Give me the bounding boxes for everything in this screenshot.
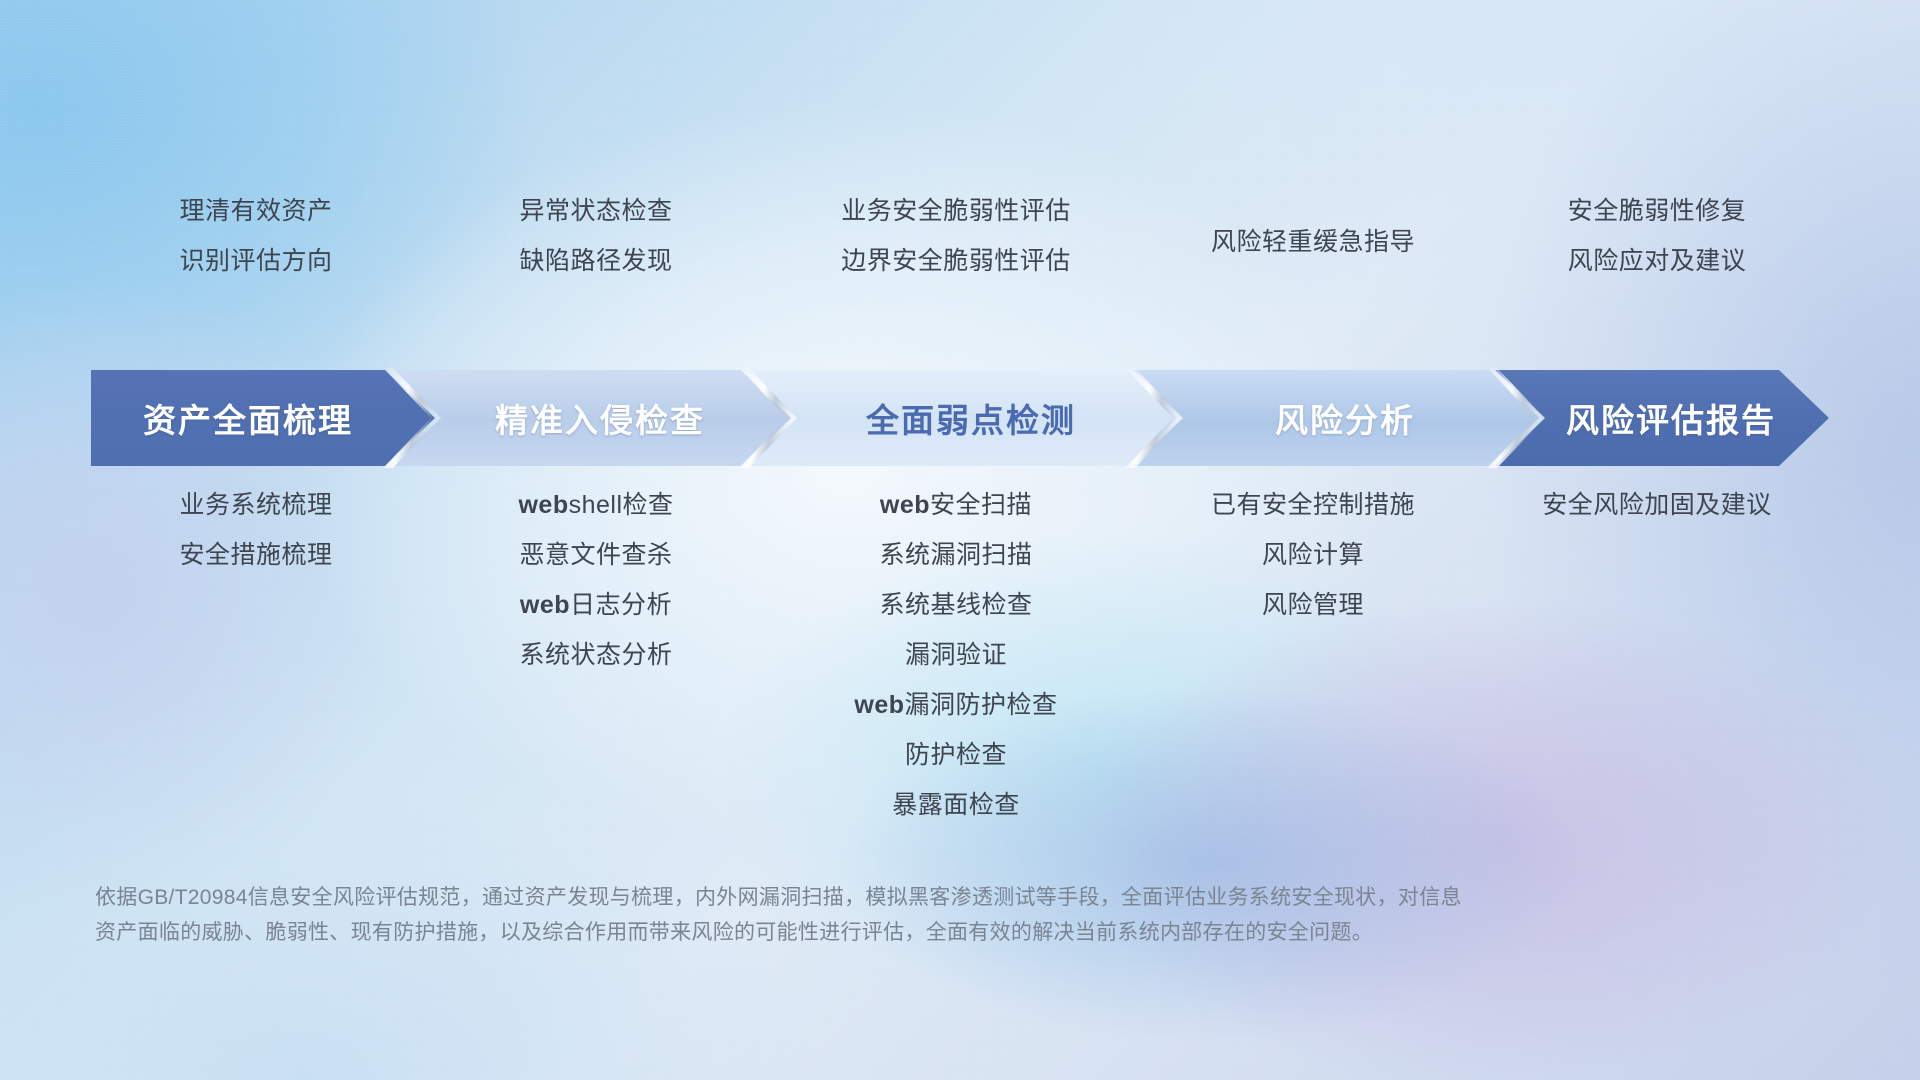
stage-arrow-weakness-detection[interactable]: 全面弱点检测: [747, 370, 1177, 466]
footer-line-1: 依据GB/T20984信息安全风险评估规范，通过资产发现与梳理，内外网漏洞扫描，…: [95, 880, 1715, 915]
note-text: 安全脆弱性修复: [1568, 186, 1747, 236]
stage-label: 全面弱点检测: [747, 394, 1177, 442]
note-text: web日志分析: [520, 580, 672, 630]
stage-arrow-asset-inventory[interactable]: 资产全面梳理: [91, 370, 435, 466]
top-notes-asset-inventory: 理清有效资产 识别评估方向: [91, 186, 421, 286]
bottom-notes-weakness-detection: web安全扫描 系统漏洞扫描 系统基线检查 漏洞验证 web漏洞防护检查 防护检…: [771, 480, 1141, 830]
note-text: 业务系统梳理: [179, 480, 332, 530]
stage-arrow-risk-analysis[interactable]: 风险分析: [1133, 370, 1539, 466]
note-text: 系统基线检查: [879, 580, 1032, 630]
note-text: 风险应对及建议: [1568, 236, 1747, 286]
note-text: 识别评估方向: [179, 236, 332, 286]
note-text: 系统漏洞扫描: [879, 530, 1032, 580]
footer-description: 依据GB/T20984信息安全风险评估规范，通过资产发现与梳理，内外网漏洞扫描，…: [95, 880, 1715, 950]
note-text: 漏洞验证: [905, 630, 1007, 680]
bottom-notes-risk-analysis: 已有安全控制措施 风险计算 风险管理: [1141, 480, 1485, 630]
bottom-notes-assessment-report: 安全风险加固及建议: [1485, 480, 1829, 530]
note-text: 风险轻重缓急指导: [1211, 217, 1415, 267]
stage-label: 资产全面梳理: [91, 394, 435, 442]
top-notes-weakness-detection: 业务安全脆弱性评估 边界安全脆弱性评估: [771, 186, 1141, 286]
top-notes-row: 理清有效资产 识别评估方向 异常状态检查 缺陷路径发现 业务安全脆弱性评估 边界…: [91, 186, 1829, 356]
stage-arrow-assessment-report[interactable]: 风险评估报告: [1495, 370, 1829, 466]
note-text: 恶意文件查杀: [519, 530, 672, 580]
top-notes-intrusion-check: 异常状态检查 缺陷路径发现: [421, 186, 771, 286]
stage-label: 精准入侵检查: [391, 394, 791, 442]
note-text: 安全风险加固及建议: [1542, 480, 1772, 530]
note-text: 边界安全脆弱性评估: [841, 236, 1071, 286]
note-text: 系统状态分析: [519, 630, 672, 680]
note-text: 业务安全脆弱性评估: [841, 186, 1071, 236]
process-arrow-band: 资产全面梳理 精准入侵检查 全面弱点检测 风险分析 风险评估报告: [91, 370, 1829, 466]
note-text: 理清有效资产: [179, 186, 332, 236]
note-text: 风险计算: [1262, 530, 1364, 580]
note-text: webshellwebshell检查检查: [518, 480, 673, 530]
note-text: web漏洞防护检查: [854, 680, 1057, 730]
note-text: web安全扫描: [880, 480, 1032, 530]
note-text: 风险管理: [1262, 580, 1364, 630]
diagram-content: 理清有效资产 识别评估方向 异常状态检查 缺陷路径发现 业务安全脆弱性评估 边界…: [0, 0, 1920, 1080]
bottom-notes-asset-inventory: 业务系统梳理 安全措施梳理: [91, 480, 421, 580]
note-text: 缺陷路径发现: [519, 236, 672, 286]
bottom-notes-row: 业务系统梳理 安全措施梳理 webshellwebshell检查检查 恶意文件查…: [91, 480, 1829, 850]
top-notes-risk-analysis: 风险轻重缓急指导: [1141, 186, 1485, 298]
stage-label: 风险分析: [1133, 394, 1539, 442]
stage-arrow-intrusion-check[interactable]: 精准入侵检查: [391, 370, 791, 466]
top-notes-assessment-report: 安全脆弱性修复 风险应对及建议: [1485, 186, 1829, 286]
note-text: 安全措施梳理: [179, 530, 332, 580]
bottom-notes-intrusion-check: webshellwebshell检查检查 恶意文件查杀 web日志分析 系统状态…: [421, 480, 771, 680]
footer-line-2: 资产面临的威胁、脆弱性、现有防护措施，以及综合作用而带来风险的可能性进行评估，全…: [95, 915, 1715, 950]
note-text: 已有安全控制措施: [1211, 480, 1415, 530]
note-text: 防护检查: [905, 730, 1007, 780]
stage-label: 风险评估报告: [1495, 394, 1829, 442]
note-text: 异常状态检查: [519, 186, 672, 236]
note-text: 暴露面检查: [892, 780, 1020, 830]
